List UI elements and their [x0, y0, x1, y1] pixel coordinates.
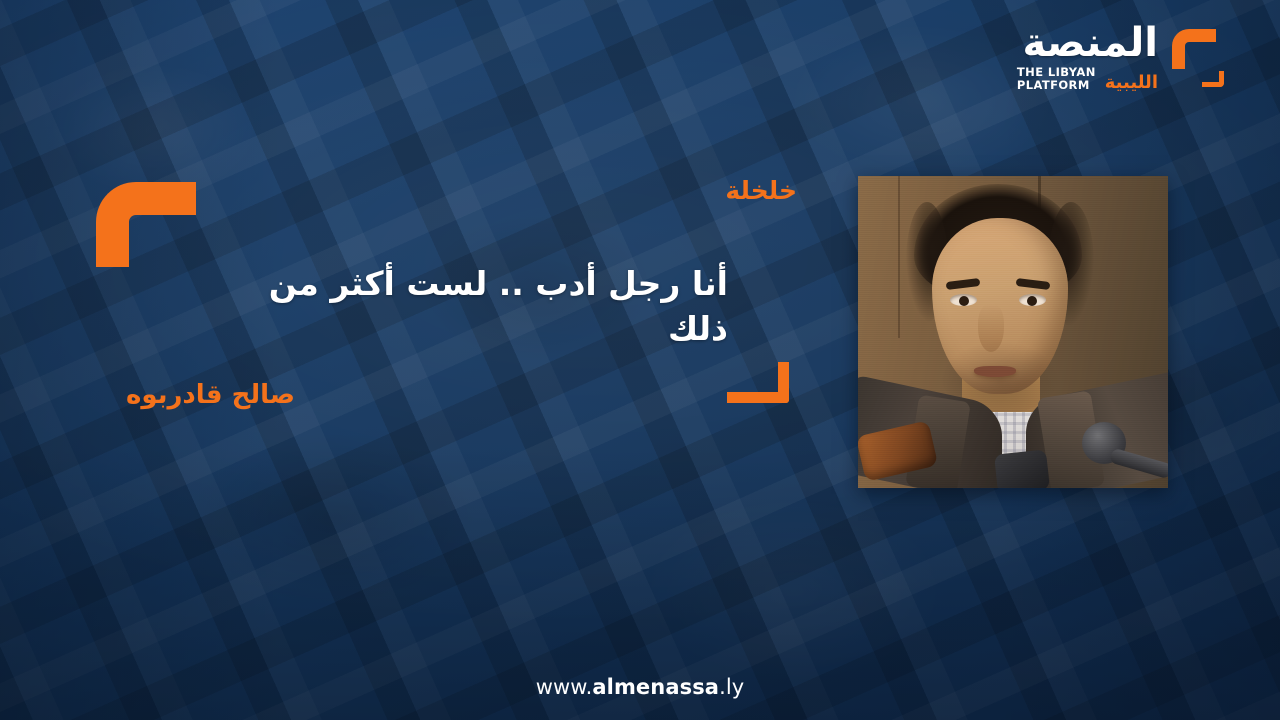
logo-subtitle-row: THE LIBYANPLATFORM الليبية: [1017, 66, 1158, 92]
footer-url-prefix: www.: [536, 675, 593, 699]
speaker-name: صالح قادربوه: [126, 380, 295, 410]
logo-arabic-title: المنصة: [1022, 22, 1158, 64]
logo-english-line2: PLATFORM: [1017, 78, 1090, 92]
logo-arabic-subtitle: الليبية: [1105, 74, 1158, 92]
logo-hook-small-icon: [1202, 71, 1224, 87]
footer-url-tld: .ly: [719, 675, 744, 699]
quote-text: أنا رجل أدب .. لست أكثر من ذلك: [208, 262, 728, 351]
quote-card: المنصة THE LIBYANPLATFORM الليبية خلخلة …: [0, 0, 1280, 720]
speaker-portrait-photo: [858, 176, 1168, 488]
category-label: خلخلة: [725, 176, 797, 205]
portrait-grain-overlay: [858, 176, 1168, 488]
orange-hook-accent-large: [96, 182, 196, 267]
portrait-illustration: [858, 176, 1168, 488]
footer-url-brand: almenassa: [592, 675, 719, 699]
logo-english-title: THE LIBYANPLATFORM: [1017, 66, 1096, 92]
logo-text-block: المنصة THE LIBYANPLATFORM الليبية: [1017, 22, 1158, 92]
logo-hook-icon: [1166, 29, 1222, 85]
almenassa-logo[interactable]: المنصة THE LIBYANPLATFORM الليبية: [1017, 22, 1222, 92]
orange-hook-accent-small: [727, 362, 789, 403]
logo-hook-large-icon: [1172, 29, 1216, 69]
footer-website-url[interactable]: www.almenassa.ly: [0, 675, 1280, 699]
